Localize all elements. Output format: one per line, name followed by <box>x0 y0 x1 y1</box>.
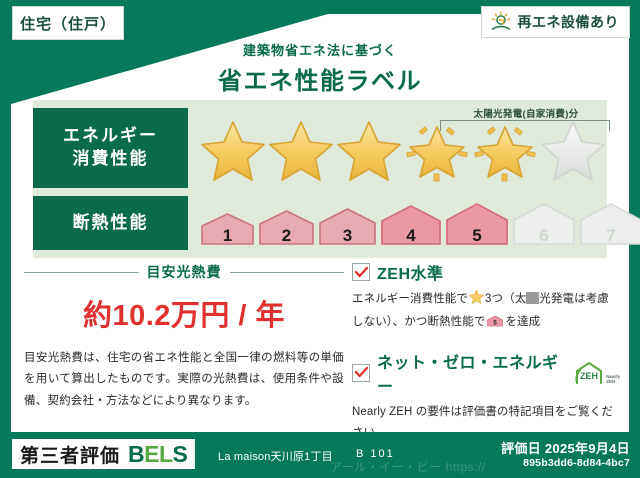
star-icon-3 <box>336 118 402 187</box>
star-icon-2 <box>268 118 334 187</box>
evaluation-date: 評価日 2025年9月4日 <box>501 438 630 457</box>
insulation-level-6: 6 <box>512 202 576 249</box>
label-title: 建築物省エネ法に基づく 省エネ性能ラベル <box>0 40 640 96</box>
inline-house-icon: 5 <box>487 314 503 336</box>
divider-right <box>230 272 345 273</box>
insulation-level-1: 1 <box>200 212 255 249</box>
utility-cost-title: 目安光熱費 <box>147 262 222 282</box>
third-party-eval-label: 第三者評価 <box>20 441 120 468</box>
zeh-netzero-block: ネット・ゼロ・エネルギー ZEH Nearly ZEH Nearly ZEH の… <box>352 349 620 445</box>
renewable-energy-badge: 再エネ設備あり <box>481 6 631 38</box>
star-rating <box>200 118 606 187</box>
insulation-scale-area: 1 2 3 <box>188 196 607 250</box>
rating-panel: エネルギー 消費性能 太陽光発電(自家消費)分 <box>33 100 607 258</box>
energy-performance-row: エネルギー 消費性能 太陽光発電(自家消費)分 <box>33 108 607 188</box>
zeh-standard-text: エネルギー消費性能で3つ（太光発電は考慮しない）、かつ断熱性能で5を達成 <box>352 289 620 337</box>
zeh-netzero-title: ネット・ゼロ・エネルギー <box>377 349 564 397</box>
bels-logo: BELS <box>128 441 187 468</box>
zeh-netzero-heading: ネット・ゼロ・エネルギー ZEH Nearly ZEH <box>352 349 620 397</box>
zeh-standard-block: ZEH水準 エネルギー消費性能で3つ（太光発電は考慮しない）、かつ断熱性能で5を… <box>352 260 620 337</box>
zeh-section: ZEH水準 エネルギー消費性能で3つ（太光発電は考慮しない）、かつ断熱性能で5を… <box>352 260 620 456</box>
zeh-logo-caption: Nearly ZEH <box>606 375 620 385</box>
housing-type-badge: 住宅（住戸） <box>12 6 124 40</box>
checkbox-checked-icon <box>352 263 370 281</box>
insulation-level-5: 5 <box>445 202 509 249</box>
insulation-level-2: 2 <box>258 209 315 249</box>
redaction-block <box>526 292 539 304</box>
energy-performance-label: 住宅（住戸） 再エネ設備あり 建築物省エネ法に基づく 省エネ性能ラベル <box>0 0 640 478</box>
insulation-level-3: 3 <box>318 207 377 249</box>
watermark: アール・イー・ビー https:// <box>330 458 486 475</box>
utility-cost-value: 約10.2万円 / 年 <box>24 292 344 334</box>
svg-text:ZEH: ZEH <box>580 371 598 381</box>
property-name: La maison天川原1丁目 <box>218 448 333 464</box>
inline-star-icon <box>469 289 484 312</box>
zeh-standard-heading: ZEH水準 <box>352 260 620 284</box>
zeh-logo-icon: ZEH Nearly ZEH <box>574 361 620 385</box>
checkbox-checked-icon-2 <box>352 364 370 382</box>
insulation-performance-label: 断熱性能 <box>33 196 188 250</box>
housing-type-label: 住宅（住戸） <box>20 13 116 34</box>
energy-performance-label: エネルギー 消費性能 <box>33 108 188 188</box>
divider-left <box>24 272 139 273</box>
star-icon-6-empty <box>540 118 606 187</box>
insulation-level-7: 7 <box>579 202 640 249</box>
utility-cost-heading: 目安光熱費 <box>24 262 344 282</box>
label-footer: 第三者評価 BELS La maison天川原1丁目 B 101 アール・イー・… <box>0 432 640 478</box>
insulation-performance-row: 断熱性能 1 2 <box>33 196 607 250</box>
title-main: 省エネ性能ラベル <box>0 61 640 96</box>
star-icon-5-solar <box>472 118 538 187</box>
insulation-scale: 1 2 3 <box>200 202 640 249</box>
zeh-standard-title: ZEH水準 <box>377 260 444 284</box>
evaluation-id: 895b3dd6-8d84-4bc7 <box>523 457 630 469</box>
sun-icon <box>489 11 513 33</box>
star-icon-4-solar <box>404 118 470 187</box>
star-rating-area: 太陽光発電(自家消費)分 <box>188 108 607 188</box>
property-unit: B 101 <box>356 448 395 460</box>
renewable-energy-label: 再エネ設備あり <box>518 12 620 32</box>
star-icon-1 <box>200 118 266 187</box>
bels-certification-badge: 第三者評価 BELS <box>12 439 195 469</box>
title-subtitle: 建築物省エネ法に基づく <box>0 40 640 59</box>
insulation-level-4: 4 <box>380 204 442 249</box>
utility-cost-section: 目安光熱費 約10.2万円 / 年 目安光熱費は、住宅の省エネ性能と全国一律の燃… <box>24 262 344 412</box>
utility-cost-description: 目安光熱費は、住宅の省エネ性能と全国一律の燃料等の単価を用いて算出したものです。… <box>24 348 344 412</box>
